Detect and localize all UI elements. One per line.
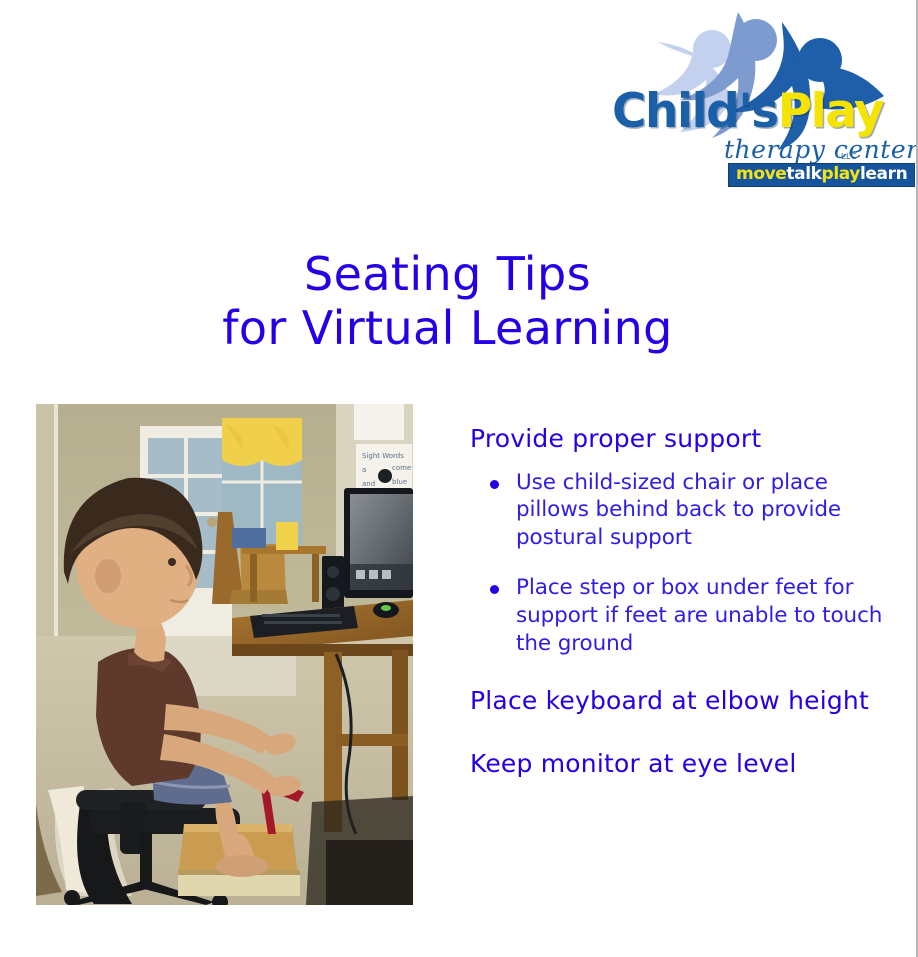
- section-heading-provide-proper-support: Provide proper support: [470, 424, 890, 455]
- seating-photo-illustration: Sight Words a come and blue away: [36, 404, 413, 905]
- svg-text:Sight Words: Sight Words: [362, 452, 404, 460]
- banner-segment-move: move: [736, 164, 786, 184]
- page-title-line-2: for Virtual Learning: [0, 301, 895, 355]
- bullet-icon: [490, 480, 499, 489]
- banner-segment-learn: learn: [860, 164, 907, 184]
- banner-segment-play: play: [822, 164, 860, 184]
- svg-text:and: and: [362, 480, 375, 488]
- tips-list-provide-proper-support: Use child-sized chair or place pillows b…: [470, 469, 890, 659]
- svg-text:blue: blue: [392, 478, 407, 486]
- section-heading-keep-monitor-at-eye-level: Keep monitor at eye level: [470, 749, 890, 780]
- page-title-line-1: Seating Tips: [0, 247, 895, 301]
- bullet-icon: [490, 585, 499, 594]
- svg-text:a: a: [362, 466, 366, 474]
- page-title: Seating Tips for Virtual Learning: [0, 247, 895, 356]
- section-heading-place-keyboard-at-elbow-height: Place keyboard at elbow height: [470, 686, 890, 717]
- list-item-label: Use child-sized chair or place pillows b…: [516, 470, 841, 551]
- seating-photo: Sight Words a come and blue away: [36, 404, 413, 905]
- list-item: Place step or box under feet for support…: [490, 574, 890, 658]
- list-item-label: Place step or box under feet for support…: [516, 575, 882, 656]
- section-spacer: [470, 717, 890, 749]
- flyer-page: Child'sPlay therapy center LLC movetalkp…: [0, 0, 918, 957]
- banner-segment-talk: talk: [786, 164, 821, 184]
- logo-llc-mark: LLC: [841, 152, 857, 161]
- logo-tagline: therapy center: [724, 135, 918, 164]
- logo: Child'sPlay therapy center LLC movetalkp…: [596, 2, 896, 188]
- list-item: Use child-sized chair or place pillows b…: [490, 469, 890, 553]
- logo-banner: movetalkplaylearn: [728, 163, 915, 187]
- svg-text:come: come: [392, 464, 411, 472]
- tips-content: Provide proper support Use child-sized c…: [470, 424, 890, 779]
- logo-wordmark-play: Play: [778, 84, 883, 139]
- logo-wordmark-childs: Child's: [612, 84, 778, 139]
- section-spacer: [470, 658, 890, 686]
